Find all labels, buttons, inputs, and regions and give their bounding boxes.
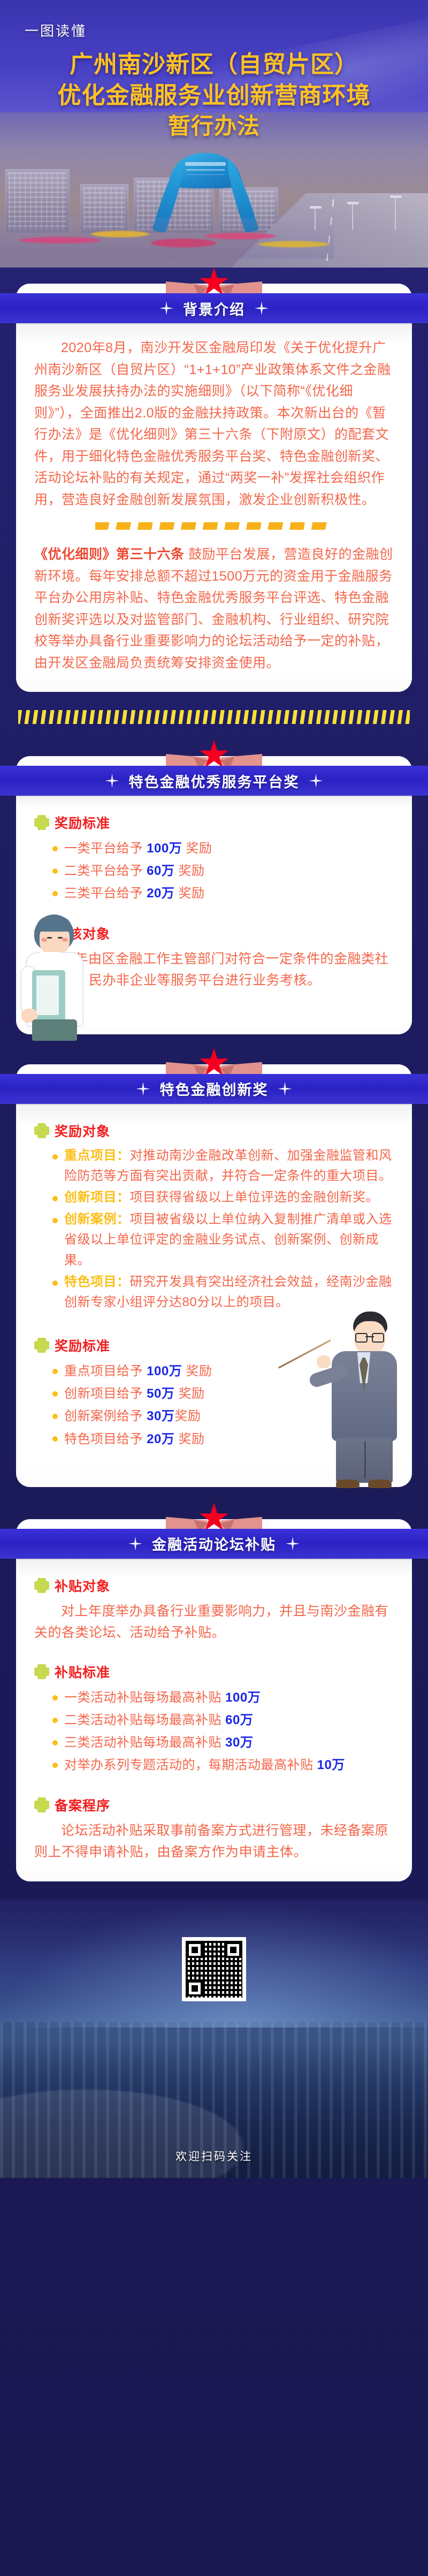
hero-street-lamp — [352, 203, 353, 230]
background-paragraph-1: 2020年8月，南沙开发区金融局印发《关于优化提升广州南沙新区（自贸片区）“1+… — [34, 337, 394, 510]
list-item: 创新案例给予 30万奖励 — [52, 1405, 394, 1428]
sparkle-icon — [136, 1082, 150, 1096]
list-item: 特色项目：研究开发具有突出经济社会效益，经南沙金融创新专家小组评分达80分以上的… — [52, 1272, 394, 1313]
sparkle-icon — [309, 774, 323, 788]
section-background: 背景介绍 2020年8月，南沙开发区金融局印发《关于优化提升广州南沙新区（自贸片… — [0, 268, 428, 724]
page-title: 广州南沙新区（自贸片区） 优化金融服务业创新营商环境 暂行办法 — [0, 49, 428, 141]
subheading-assessment-target: 考核对象 — [34, 924, 394, 943]
clover-bullet-icon — [34, 926, 49, 941]
list-item: 创新项目给予 50万 奖励 — [52, 1383, 394, 1405]
banner-bar: 金融活动论坛补贴 — [0, 1529, 428, 1559]
hero-flowerbed — [0, 218, 334, 258]
banner-bar: 特色金融优秀服务平台奖 — [0, 766, 428, 796]
list-item: 特色项目给予 20万 奖励 — [52, 1428, 394, 1451]
sparkle-icon — [286, 1537, 300, 1551]
striped-divider — [18, 710, 410, 724]
list-item: 三类平台给予 20万 奖励 — [52, 882, 394, 905]
eyebrow-label: 一图读懂 — [25, 20, 87, 40]
sparkle-icon — [105, 774, 119, 788]
section-platform-award: 特色金融优秀服务平台奖 奖励标准 一类平台给予 100万 奖励 二类平台给予 6… — [0, 740, 428, 1034]
list-item: 一类平台给予 100万 奖励 — [52, 837, 394, 860]
background-paragraph-2: 《优化细则》第三十六条 鼓励平台发展，营造良好的金融创新环境。每年安排总额不超过… — [34, 544, 394, 674]
footer-caption: 欢迎扫码关注 — [0, 2148, 428, 2164]
section-banner-innovation-award: 特色金融创新奖 — [0, 1048, 428, 1104]
section-title: 金融活动论坛补贴 — [152, 1533, 276, 1554]
amount-value: 100万 — [147, 841, 182, 856]
subheading-label: 奖励对象 — [55, 1121, 110, 1140]
hero-title-line-3: 暂行办法 — [0, 111, 428, 141]
list-item: 重点项目：对推动南沙金融改革创新、加强金融监管和风险防范等方面有突出贡献，并符合… — [52, 1146, 394, 1187]
section-banner-forum-subsidy: 金融活动论坛补贴 — [0, 1503, 428, 1559]
amount-value: 30万 — [147, 1409, 174, 1423]
article-reference-text: 鼓励平台发展，营造良好的金融创新环境。每年安排总额不超过1500万元的资金用于金… — [34, 547, 393, 670]
dashed-divider — [95, 522, 333, 530]
clover-bullet-icon — [34, 1578, 49, 1593]
amount-value: 100万 — [147, 1364, 182, 1378]
subheading-reward-target: 奖励对象 — [34, 1121, 394, 1140]
amount-value: 20万 — [147, 886, 174, 901]
item-tag: 创新项目： — [64, 1190, 130, 1205]
item-tag: 重点项目： — [64, 1148, 130, 1163]
footer-section: 欢迎扫码关注 — [0, 1900, 428, 2178]
hero-street-lamp — [395, 197, 396, 230]
infographic-page: 一图读懂 广州南沙新区（自贸片区） 优化金融服务业创新营商环境 暂行办法 背景介… — [0, 0, 428, 2576]
innovation-award-standard-list: 重点项目给予 100万 奖励 创新项目给予 50万 奖励 创新案例给予 30万奖… — [34, 1360, 394, 1467]
platform-award-card: 奖励标准 一类平台给予 100万 奖励 二类平台给予 60万 奖励 三类平台给予… — [16, 796, 412, 1034]
subheading-label: 奖励标准 — [55, 813, 110, 832]
hero-street-lamp — [315, 208, 316, 230]
section-banner-platform-award: 特色金融优秀服务平台奖 — [0, 740, 428, 796]
amount-value: 60万 — [147, 864, 174, 878]
sparkle-icon — [278, 1082, 292, 1096]
subheading-label: 补贴标准 — [55, 1662, 110, 1681]
amount-value: 60万 — [225, 1713, 253, 1727]
clover-bullet-icon — [34, 815, 49, 830]
amount-value: 50万 — [147, 1386, 174, 1401]
clover-bullet-icon — [34, 1664, 49, 1679]
list-item: 创新案例：项目被省级以上单位纳入复制推广清单或入选省级以上单位评定的金融业务试点… — [52, 1209, 394, 1271]
platform-award-target-text: 每年由区金融工作主管部门对符合一定条件的金融类社会团体、民办非企业等服务平台进行… — [34, 948, 394, 1016]
list-item: 二类活动补贴每场最高补贴 60万 — [52, 1709, 394, 1732]
forum-subsidy-standard-list: 一类活动补贴每场最高补贴 100万 二类活动补贴每场最高补贴 60万 三类活动补… — [34, 1687, 394, 1777]
clover-bullet-icon — [34, 1338, 49, 1353]
forum-subsidy-card: 补贴对象 对上年度举办具备行业重要影响力，并且与南沙金融有关的各类论坛、活动给予… — [16, 1559, 412, 1881]
section-title: 背景介绍 — [183, 298, 245, 319]
amount-value: 20万 — [147, 1432, 174, 1446]
subheading-label: 备案程序 — [55, 1795, 110, 1815]
sparkle-icon — [128, 1537, 142, 1551]
list-item: 一类活动补贴每场最高补贴 100万 — [52, 1687, 394, 1709]
clover-bullet-icon — [34, 1797, 49, 1812]
section-banner-background: 背景介绍 — [0, 268, 428, 323]
list-item: 三类活动补贴每场最高补贴 30万 — [52, 1732, 394, 1754]
section-forum-subsidy: 金融活动论坛补贴 补贴对象 对上年度举办具备行业重要影响力，并且与南沙金融有关的… — [0, 1503, 428, 1881]
platform-award-standard-list: 一类平台给予 100万 奖励 二类平台给予 60万 奖励 三类平台给予 20万 … — [34, 837, 394, 905]
subheading-reward-standard: 奖励标准 — [34, 813, 394, 832]
article-reference-label: 《优化细则》第三十六条 — [34, 547, 185, 562]
section-title: 特色金融优秀服务平台奖 — [129, 771, 300, 791]
item-tag: 创新案例： — [64, 1212, 130, 1226]
amount-value: 100万 — [225, 1690, 261, 1705]
sparkle-icon — [159, 301, 173, 315]
qr-code[interactable] — [182, 1937, 246, 2001]
innovation-award-target-list: 重点项目：对推动南沙金融改革创新、加强金融监管和风险防范等方面有突出贡献，并符合… — [34, 1146, 394, 1313]
banner-bar: 背景介绍 — [0, 293, 428, 323]
banner-bar: 特色金融创新奖 — [0, 1074, 428, 1104]
section-innovation-award: 特色金融创新奖 奖励对象 重点项目：对推动南沙金融改革创新、加强金融监管和风险防… — [0, 1048, 428, 1487]
subheading-reward-standard: 奖励标准 — [34, 1336, 394, 1355]
forum-subsidy-target-text: 对上年度举办具备行业重要影响力，并且与南沙金融有关的各类论坛、活动给予补贴。 — [34, 1601, 394, 1644]
hero-title-line-1: 广州南沙新区（自贸片区） — [0, 49, 428, 80]
background-card: 2020年8月，南沙开发区金融局印发《关于优化提升广州南沙新区（自贸片区）“1+… — [16, 323, 412, 692]
amount-value: 30万 — [225, 1735, 253, 1750]
hero-title-line-2: 优化金融服务业创新营商环境 — [0, 80, 428, 111]
subheading-subsidy-standard: 补贴标准 — [34, 1662, 394, 1681]
hero-banner: 一图读懂 广州南沙新区（自贸片区） 优化金融服务业创新营商环境 暂行办法 — [0, 0, 428, 268]
clover-bullet-icon — [34, 1123, 49, 1138]
subheading-label: 考核对象 — [55, 924, 110, 943]
item-tag: 特色项目： — [64, 1275, 130, 1289]
list-item: 二类平台给予 60万 奖励 — [52, 860, 394, 882]
innovation-award-card: 奖励对象 重点项目：对推动南沙金融改革创新、加强金融监管和风险防范等方面有突出贡… — [16, 1104, 412, 1487]
forum-subsidy-procedure-text: 论坛活动补贴采取事前备案方式进行管理，未经备案原则上不得申请补贴，由备案方作为申… — [34, 1820, 394, 1863]
sparkle-icon — [255, 301, 269, 315]
list-item: 创新项目：项目获得省级以上单位评选的金融创新奖。 — [52, 1187, 394, 1208]
subheading-label: 奖励标准 — [55, 1336, 110, 1355]
subheading-filing-procedure: 备案程序 — [34, 1795, 394, 1815]
list-item: 重点项目给予 100万 奖励 — [52, 1360, 394, 1383]
amount-value: 10万 — [317, 1758, 345, 1772]
list-item: 对举办系列专题活动的，每期活动最高补贴 10万 — [52, 1754, 394, 1777]
subheading-label: 补贴对象 — [55, 1576, 110, 1595]
subheading-subsidy-target: 补贴对象 — [34, 1576, 394, 1595]
section-title: 特色金融创新奖 — [160, 1078, 269, 1099]
